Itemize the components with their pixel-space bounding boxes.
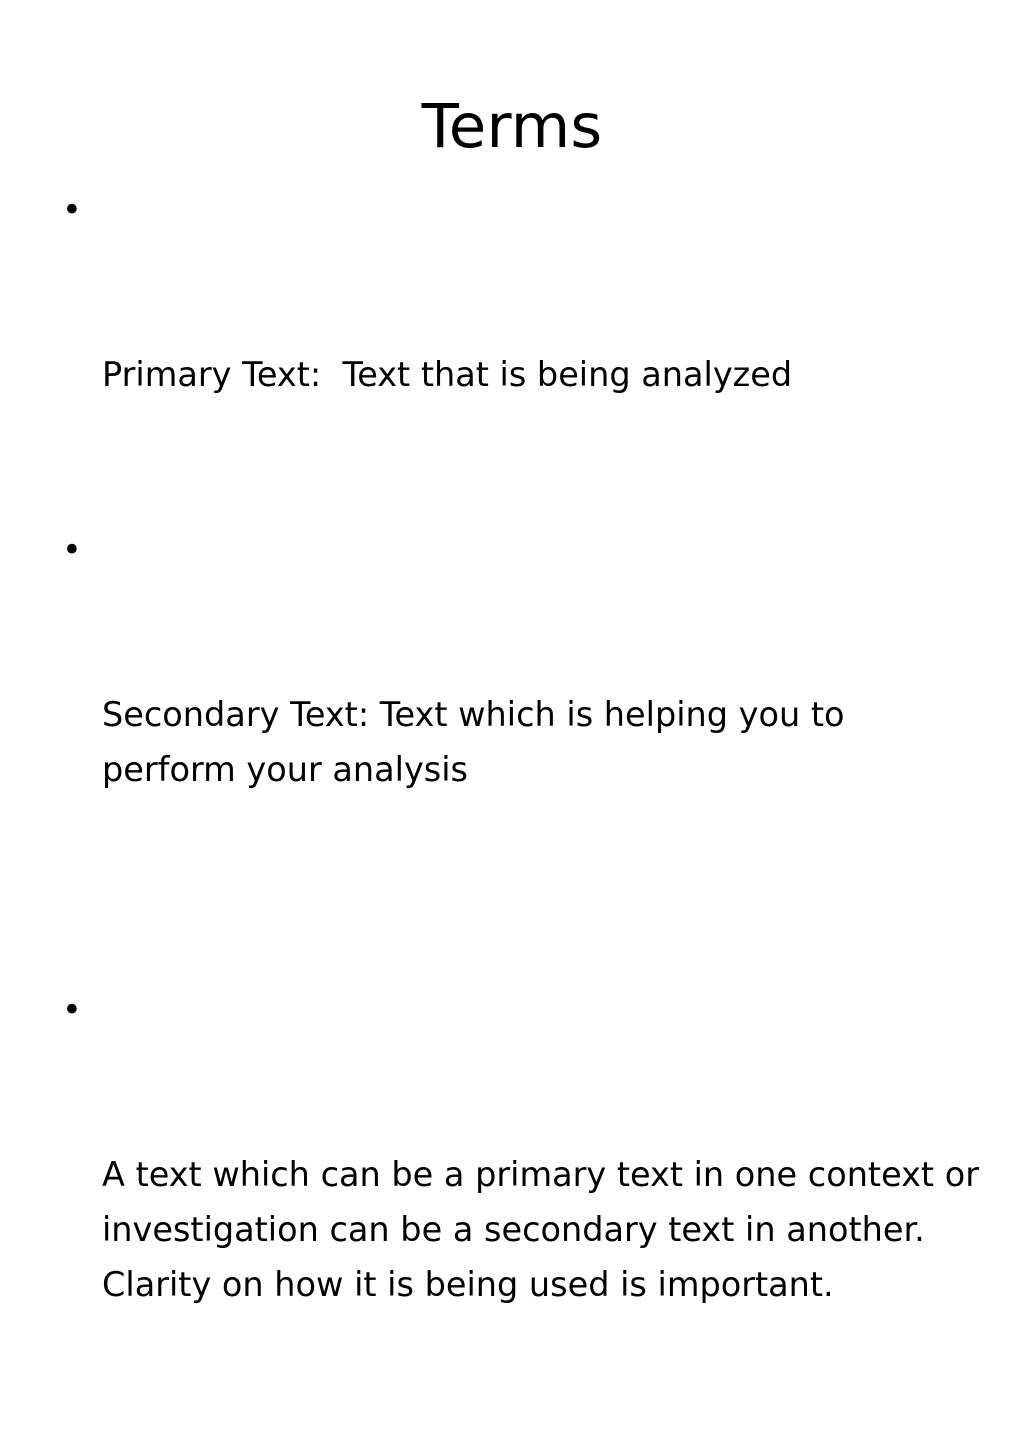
list-item: • A text which can be a primary text in … (56, 982, 986, 1422)
list-item-label: Primary Text: Text that is being analyze… (102, 347, 962, 402)
page-title: Terms (0, 93, 1024, 161)
list-item-label: A text which can be a primary text in on… (102, 1147, 986, 1312)
list-item-label: Secondary Text: Text which is helping yo… (102, 687, 932, 797)
list-item: • Secondary Text: Text which is helping … (56, 522, 986, 907)
bullet-point-icon: • (62, 982, 84, 1037)
list-item: • Primary Text: Text that is being analy… (56, 182, 986, 512)
bullet-list: • Primary Text: Text that is being analy… (56, 182, 986, 1422)
bullet-point-icon: • (62, 522, 84, 577)
slide-canvas: Terms • Primary Text: Text that is being… (0, 0, 1024, 768)
slide-body: • Primary Text: Text that is being analy… (56, 182, 986, 1432)
list-item-spacer (56, 917, 986, 972)
bullet-point-icon: • (62, 182, 84, 237)
